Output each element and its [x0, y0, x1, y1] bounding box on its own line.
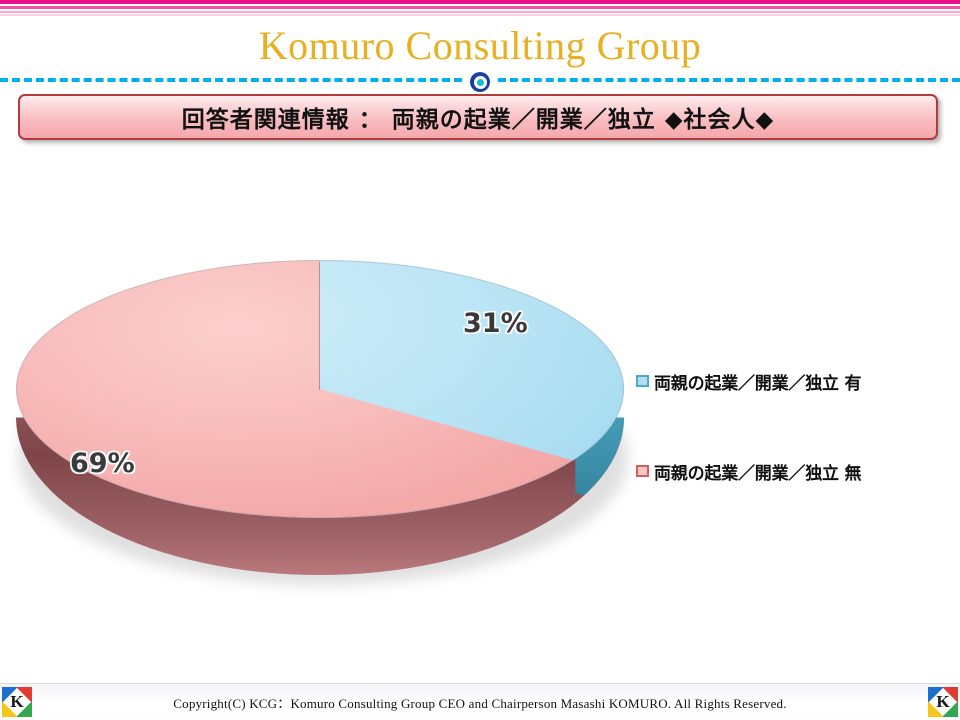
top-stripe-band	[0, 0, 960, 16]
legend-label-yes: 両親の起業／開業／独立 有	[654, 369, 861, 394]
divider-line-left	[0, 78, 462, 82]
title-divider	[0, 72, 960, 90]
target-circle-icon	[470, 72, 490, 92]
pie-slice-divider	[319, 262, 320, 390]
footer-bar: K Copyright(C) KCG：Komuro Consulting Gro…	[0, 683, 960, 720]
pie-value-label-no: 69%	[70, 448, 135, 479]
legend-item-yes[interactable]: 両親の起業／開業／独立 有	[636, 370, 951, 392]
section-banner: 回答者関連情報 ： 両親の起業／開業／独立 ◆社会人◆	[18, 94, 938, 140]
pie-graphic: 31% 69%	[8, 210, 638, 600]
target-circle-core	[477, 79, 484, 86]
legend-label-no: 両親の起業／開業／独立 無	[654, 459, 861, 484]
pie-outline	[16, 260, 624, 518]
divider-line-right	[498, 78, 960, 82]
pie-value-label-yes: 31%	[463, 308, 528, 339]
legend-swatch-icon-yes	[636, 375, 649, 387]
page-title: Komuro Consulting Group	[0, 22, 960, 69]
legend-item-no[interactable]: 両親の起業／開業／独立 無	[636, 460, 951, 482]
chart-legend: 両親の起業／開業／独立 有 両親の起業／開業／独立 無	[636, 370, 951, 550]
legend-swatch-icon-no	[636, 465, 649, 477]
pie-chart: 31% 69% 両親の起業／開業／独立 有 両親の起業／開業／独立 無	[0, 180, 960, 650]
stripe-pale-pink	[0, 14, 960, 16]
copyright-text: Copyright(C) KCG：Komuro Consulting Group…	[0, 693, 960, 712]
logo-letter: K	[928, 687, 958, 717]
kcg-logo-icon-right: K	[928, 687, 958, 717]
target-circle-ring	[474, 76, 487, 89]
section-banner-text: 回答者関連情報 ： 両親の起業／開業／独立 ◆社会人◆	[182, 100, 774, 134]
